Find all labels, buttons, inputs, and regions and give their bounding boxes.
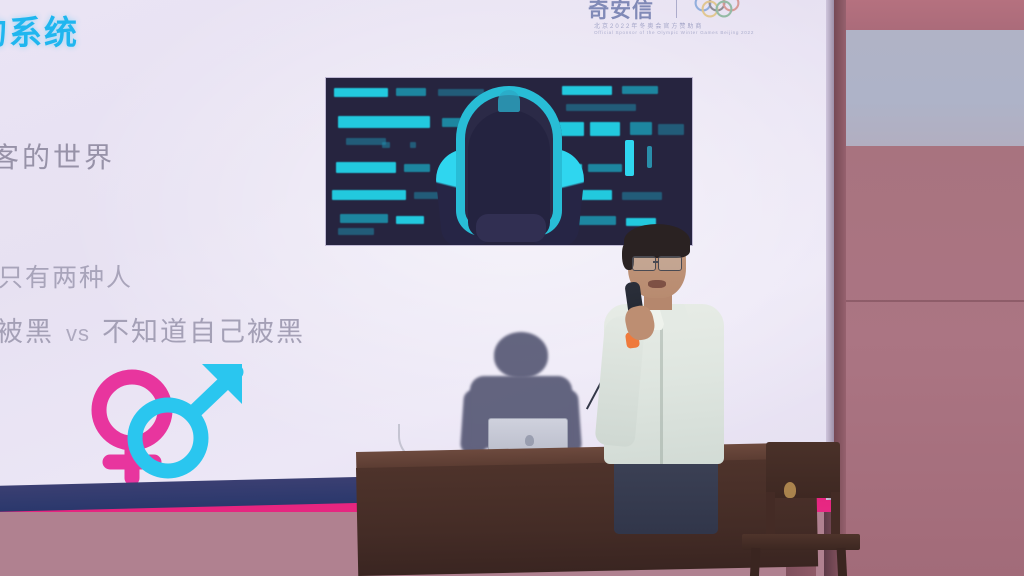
hacker-hands	[476, 214, 546, 242]
laptop-logo	[525, 435, 534, 446]
hacker-figure	[434, 86, 584, 245]
chair-highlight	[784, 482, 796, 498]
chair-leg-left	[749, 548, 761, 576]
male-symbol-icon	[124, 356, 254, 482]
hooded-hacker-image	[326, 78, 692, 245]
slide-subtitle: 黑客的世界	[0, 136, 115, 176]
slide-body-right-clause: 不知道自己被黑	[102, 317, 305, 347]
presenter-trousers	[614, 456, 718, 534]
chair-post-right	[831, 492, 840, 538]
cyan-accent-bar	[625, 140, 634, 176]
chair-leg-right	[837, 548, 849, 576]
presentation-photo: 安全的系统 黑客的世界 界上只有两种人 自己被黑vs不知道自己被黑 奇安信 北京…	[0, 0, 1024, 576]
logo-divider	[676, 0, 677, 18]
hacker-hood-peak	[498, 90, 520, 112]
chair-post-left	[766, 492, 775, 538]
slide-vs-separator: vs	[54, 321, 102, 346]
cyan-accent-bar-small	[647, 146, 652, 168]
slide-title: 安全的系统	[0, 6, 79, 54]
glasses-lens-left	[632, 256, 656, 271]
wall-seam-line	[834, 300, 1024, 302]
screen-right-edge	[826, 0, 834, 500]
gender-symbols-graphic	[62, 352, 262, 486]
slide-body-left-clause: 自己被黑	[0, 317, 54, 347]
slide-body-line-1: 界上只有两种人	[0, 258, 133, 294]
olympic-rings-icon	[692, 0, 766, 18]
glasses-bridge	[653, 261, 659, 263]
sponsor-logo: 奇安信 北京2022年冬奥会官方赞助商 Official Sponsor of …	[588, 0, 798, 46]
wall-upper-band	[830, 0, 1024, 30]
presenter	[604, 228, 732, 528]
presenter-mouth	[648, 280, 666, 288]
wall-main-surface	[834, 146, 1024, 576]
sponsor-tagline-en: Official Sponsor of the Olympic Winter G…	[594, 30, 754, 35]
glasses-lens-right	[658, 256, 682, 271]
slide-body-line-2: 自己被黑vs不知道自己被黑	[0, 310, 305, 349]
shadow-head	[494, 332, 548, 378]
sponsor-tagline-cn: 北京2022年冬奥会官方赞助商	[594, 21, 703, 30]
shirt-placket	[660, 326, 663, 464]
chair-backrest	[766, 442, 840, 498]
wall-light-panel	[846, 30, 1024, 148]
wooden-chair	[742, 442, 860, 576]
